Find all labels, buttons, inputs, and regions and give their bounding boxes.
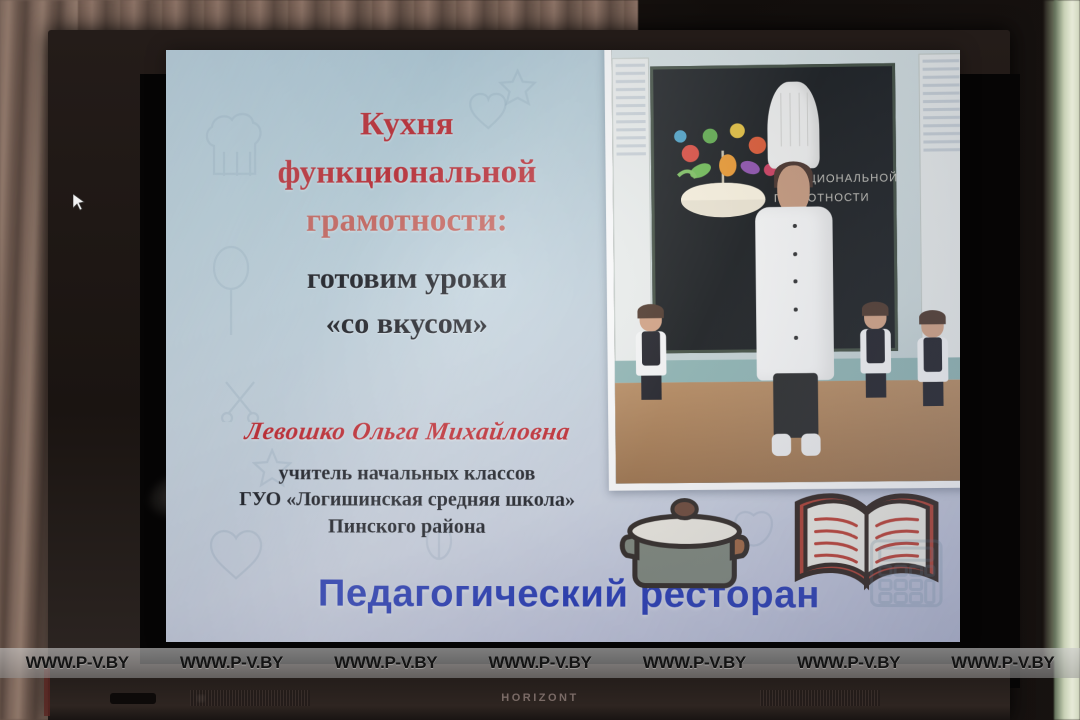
device-brand-label: HORIZONT — [0, 692, 1080, 704]
photo-pupil-3 — [917, 313, 949, 406]
author-role-line-3: Пинского района — [186, 513, 629, 541]
calculator-outline-icon — [869, 538, 944, 609]
photo-pupil-2 — [860, 305, 892, 398]
watermark-text: WWW.P-V.BY — [771, 653, 925, 673]
slide-title-red: Кухня функциональной грамотности: — [206, 101, 609, 246]
cooking-pot-icon — [619, 491, 751, 600]
presentation-slide[interactable]: Кухня функциональной грамотности: готови… — [166, 50, 960, 642]
author-role: учитель начальных классов ГУО «Логишинск… — [186, 460, 629, 540]
slide-title-line-3: грамотности: — [206, 197, 609, 246]
teacher-shoe-right — [801, 433, 821, 456]
slide-surface: Кухня функциональной грамотности: готови… — [166, 50, 960, 642]
chef-hat — [767, 82, 820, 170]
slide-subtitle-black: готовим уроки «со вкусом» — [206, 255, 609, 346]
slide-title-line-1: Кухня — [206, 101, 609, 150]
slide-subtitle-line-2: «со вкусом» — [206, 300, 609, 345]
classroom-photo-inner: КУХНЯ ФУНКЦИОНАЛЬНОЙ ГРАМОТНОСТИ — [611, 50, 960, 484]
scissors-outline-icon — [218, 380, 262, 422]
teacher-trousers — [773, 373, 819, 438]
screenshot-stage: Кухня функциональной грамотности: готови… — [0, 0, 1080, 720]
slide-icon-row — [619, 483, 960, 605]
teacher-shoe-left — [772, 434, 792, 457]
photo-pupil-1 — [635, 307, 666, 400]
author-role-line-2: ГУО «Логишинская средняя школа» — [186, 486, 629, 513]
watermark-text: WWW.P-V.BY — [0, 653, 154, 673]
watermark-text: WWW.P-V.BY — [926, 653, 1080, 673]
mouse-cursor-icon — [73, 194, 85, 211]
slide-title-block: Кухня функциональной грамотности: готови… — [206, 101, 609, 346]
author-name: Левошко Ольга Михайловна — [243, 418, 572, 446]
wall-right — [1054, 0, 1080, 720]
chef-coat — [755, 206, 835, 381]
watermark-text: WWW.P-V.BY — [309, 653, 463, 673]
watermark-text: WWW.P-V.BY — [154, 653, 308, 673]
slide-title-line-2: функциональной — [206, 149, 609, 198]
slide-subtitle-line-1: готовим уроки — [206, 255, 609, 301]
author-block: Левошко Ольга Михайловна учитель начальн… — [186, 418, 629, 540]
classroom-photo: КУХНЯ ФУНКЦИОНАЛЬНОЙ ГРАМОТНОСТИ — [604, 50, 960, 491]
watermark-text: WWW.P-V.BY — [463, 653, 617, 673]
photo-teacher — [752, 81, 837, 460]
watermark-bar: WWW.P-V.BY WWW.P-V.BY WWW.P-V.BY WWW.P-V… — [0, 648, 1080, 678]
watermark-text: WWW.P-V.BY — [617, 653, 771, 673]
author-role-line-1: учитель начальных классов — [186, 460, 629, 487]
